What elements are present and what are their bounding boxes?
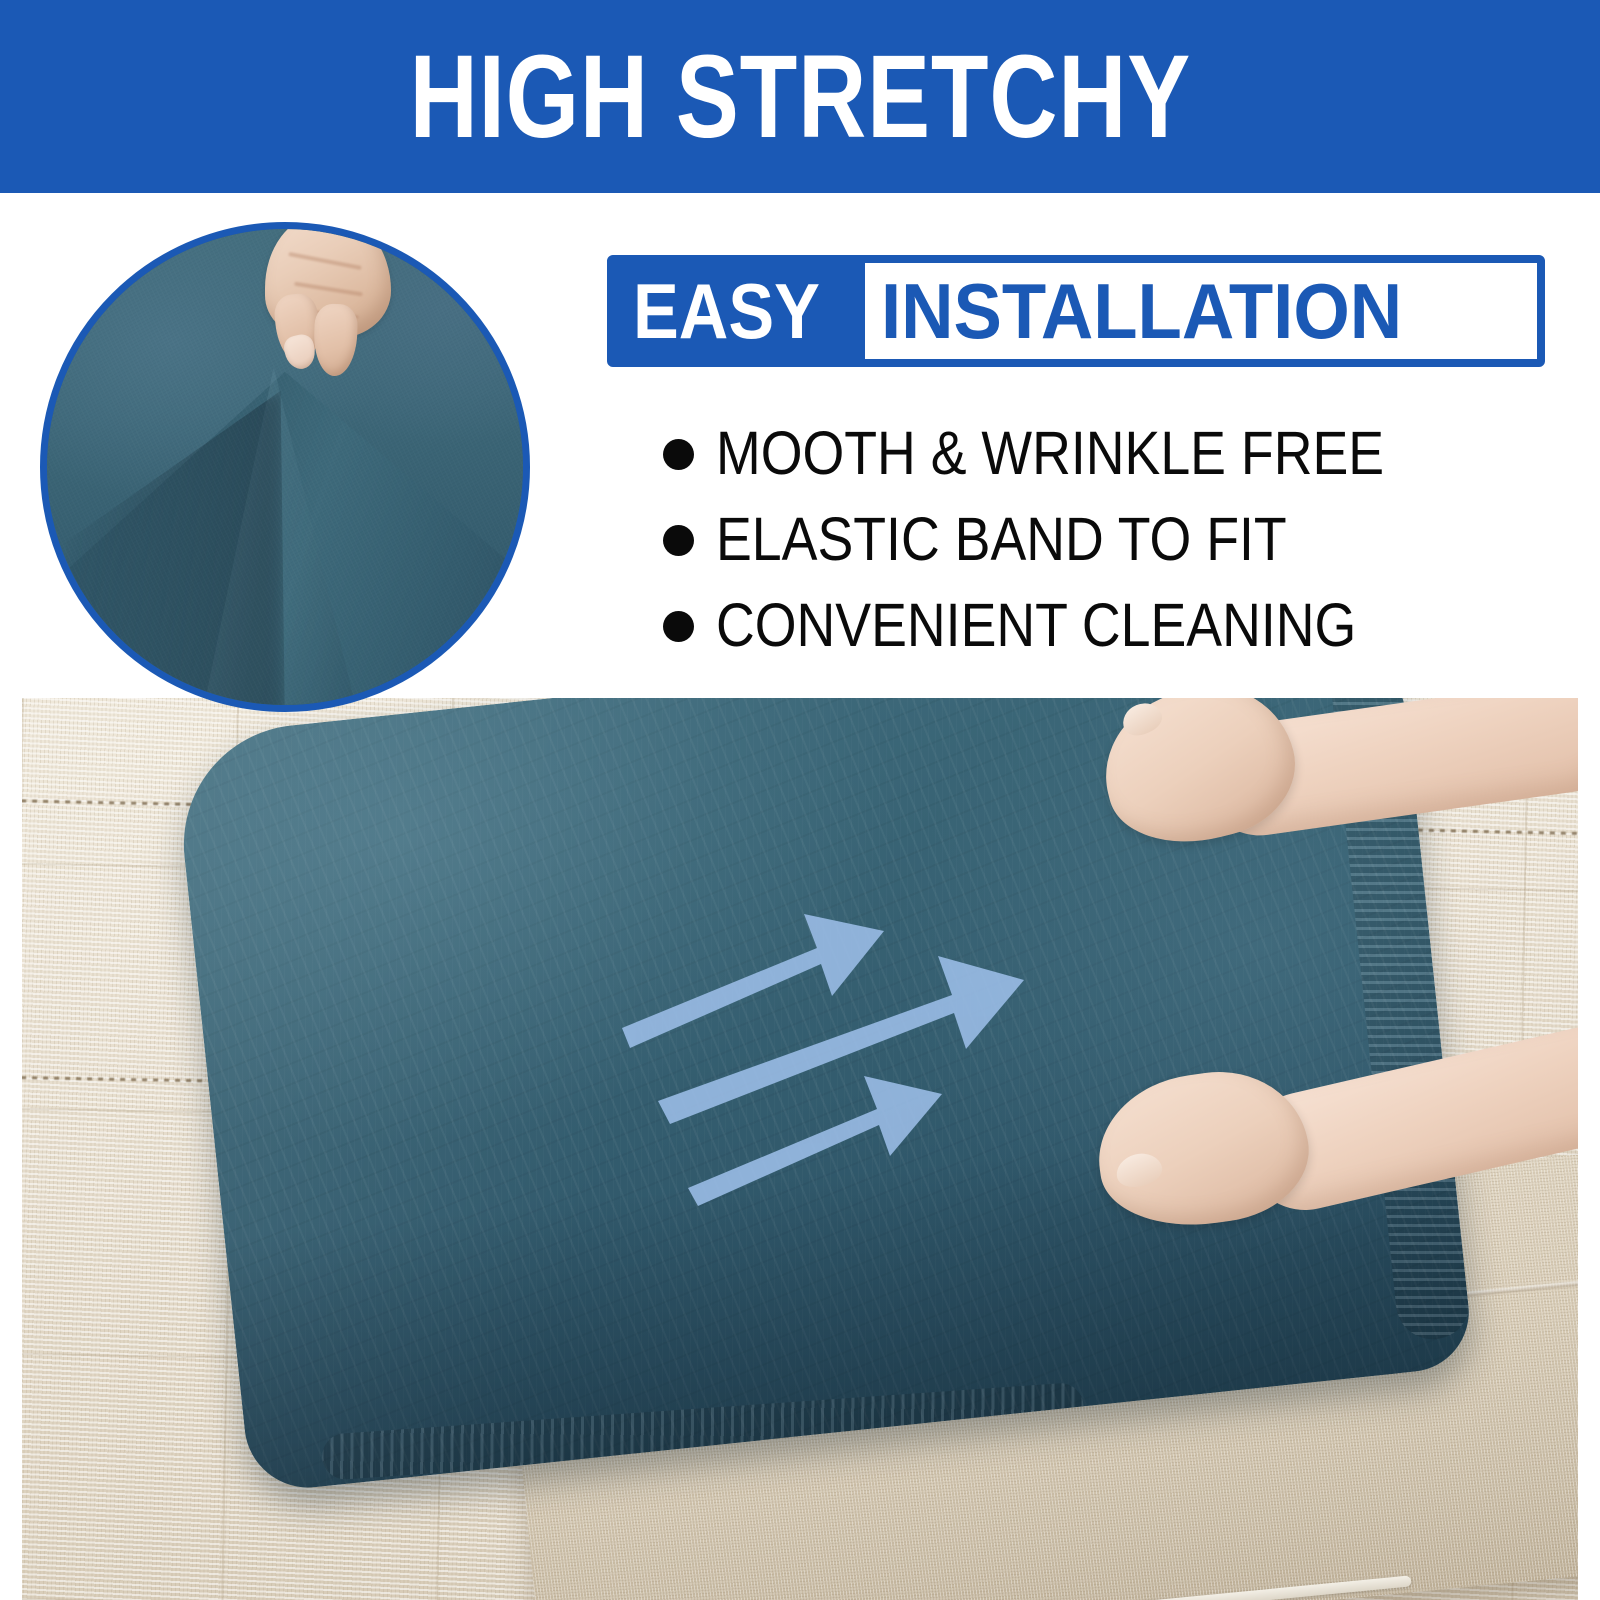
list-item: ELASTIC BAND TO FIT [663,496,1563,582]
upper-hand-grip [1089,698,1310,861]
bullet-dot-icon [663,439,694,470]
list-item: MOOTH & WRINKLE FREE [663,410,1563,496]
list-item: CONVENIENT CLEANING [663,582,1563,668]
pinching-hand [256,229,399,386]
bullet-label: MOOTH & WRINKLE FREE [716,423,1384,484]
page-title: HIGH STRETCHY [409,38,1190,156]
circle-photo-inner [47,229,523,705]
easy-label-block: EASY [615,263,865,359]
bullet-label: ELASTIC BAND TO FIT [716,509,1287,570]
lower-hand [1072,988,1578,1288]
easy-installation-header: EASY INSTALLATION [607,255,1545,367]
upper-hand [1082,698,1578,938]
bullet-dot-icon [663,611,694,642]
feature-bullet-list: MOOTH & WRINKLE FREE ELASTIC BAND TO FIT… [663,410,1563,668]
cushion-zipper [608,1575,1412,1600]
installation-label: INSTALLATION [881,272,1402,350]
installation-demo-photo [22,698,1578,1600]
middle-finger [312,303,357,376]
lower-hand-grip [1089,1060,1318,1238]
installation-label-block: INSTALLATION [865,263,1537,359]
header-banner: HIGH STRETCHY [0,0,1600,193]
easy-label: EASY [633,272,820,350]
bullet-dot-icon [663,525,694,556]
fabric-stretch-circle-photo [40,222,530,712]
bullet-label: CONVENIENT CLEANING [716,595,1356,656]
